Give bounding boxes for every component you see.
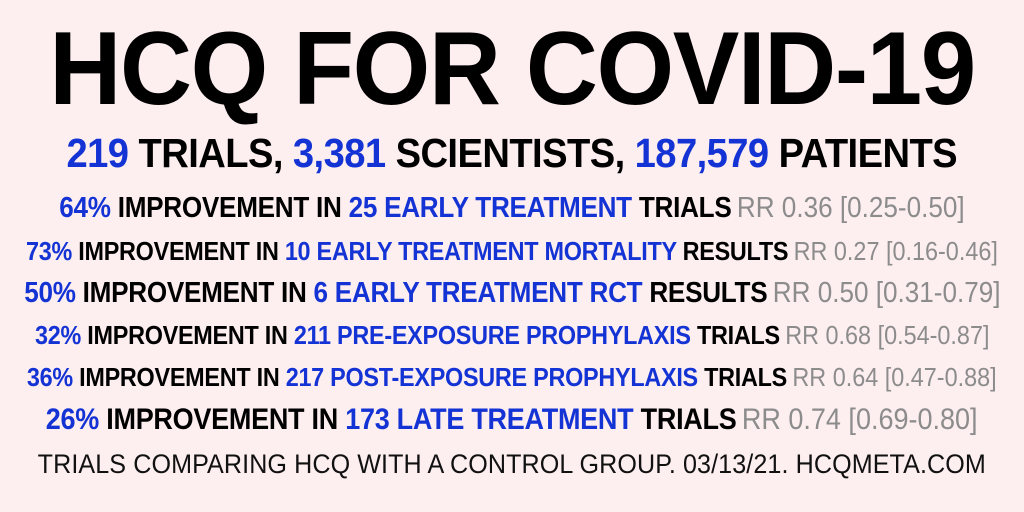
result-mid-text: IMPROVEMENT IN [111, 192, 349, 224]
result-risk-ratio: RR 0.36 [0.25-0.50] [737, 192, 965, 224]
result-risk-ratio: RR 0.64 [0.47-0.88] [793, 362, 997, 392]
result-percent: 36% [27, 362, 73, 392]
result-mid-text: IMPROVEMENT IN [81, 320, 294, 350]
footer-note: TRIALS COMPARING HCQ WITH A CONTROL GROU… [38, 450, 986, 480]
result-row: 32% IMPROVEMENT IN 211 PRE-EXPOSURE PROP… [35, 314, 989, 356]
result-tail-text: TRIALS [698, 362, 787, 392]
result-risk-ratio: RR 0.74 [0.69-0.80] [742, 403, 978, 436]
result-mid-text: IMPROVEMENT IN [72, 236, 285, 266]
result-risk-ratio: RR 0.50 [0.31-0.79] [772, 277, 1000, 309]
trials-label: TRIALS, [129, 130, 293, 176]
result-percent: 73% [26, 236, 72, 266]
result-row: 73% IMPROVEMENT IN 10 EARLY TREATMENT MO… [26, 230, 998, 272]
result-category: 217 POST-EXPOSURE PROPHYLAXIS [286, 362, 698, 392]
result-percent: 32% [35, 320, 81, 350]
result-category: 6 EARLY TREATMENT RCT [313, 277, 642, 309]
scientists-count: 3,381 [293, 130, 386, 176]
result-percent: 26% [46, 403, 99, 436]
result-category: 211 PRE-EXPOSURE PROPHYLAXIS [294, 320, 691, 350]
result-category: 25 EARLY TREATMENT [349, 192, 632, 224]
summary-counts: 219 TRIALS, 3,381 SCIENTISTS, 187,579 PA… [67, 132, 958, 175]
scientists-label: SCIENTISTS, [386, 130, 635, 176]
result-mid-text: IMPROVEMENT IN [73, 362, 286, 392]
result-tail-text: TRIALS [690, 320, 779, 350]
result-percent: 64% [59, 192, 110, 224]
result-risk-ratio: RR 0.27 [0.16-0.46] [794, 236, 998, 266]
result-category: 10 EARLY TREATMENT MORTALITY [285, 236, 677, 266]
poster-root: HCQ FOR COVID-19 219 TRIALS, 3,381 SCIEN… [0, 0, 1024, 512]
patients-label: PATIENTS [769, 130, 957, 176]
result-row: 36% IMPROVEMENT IN 217 POST-EXPOSURE PRO… [27, 356, 997, 398]
result-tail-text: TRIALS [634, 403, 737, 436]
result-mid-text: IMPROVEMENT IN [99, 403, 345, 436]
patients-count: 187,579 [635, 130, 769, 176]
result-tail-text: RESULTS [676, 236, 788, 266]
result-risk-ratio: RR 0.68 [0.54-0.87] [785, 320, 989, 350]
result-row: 50% IMPROVEMENT IN 6 EARLY TREATMENT RCT… [24, 272, 1000, 314]
trials-count: 219 [67, 130, 129, 176]
result-mid-text: IMPROVEMENT IN [75, 277, 313, 309]
result-percent: 50% [24, 277, 75, 309]
results-list: 64% IMPROVEMENT IN 25 EARLY TREATMENT TR… [0, 187, 1024, 442]
result-row: 64% IMPROVEMENT IN 25 EARLY TREATMENT TR… [59, 187, 964, 230]
result-tail-text: RESULTS [642, 277, 767, 309]
result-row: 26% IMPROVEMENT IN 173 LATE TREATMENT TR… [46, 398, 978, 442]
page-title: HCQ FOR COVID-19 [49, 16, 975, 122]
result-category: 173 LATE TREATMENT [346, 403, 634, 436]
result-tail-text: TRIALS [632, 192, 732, 224]
